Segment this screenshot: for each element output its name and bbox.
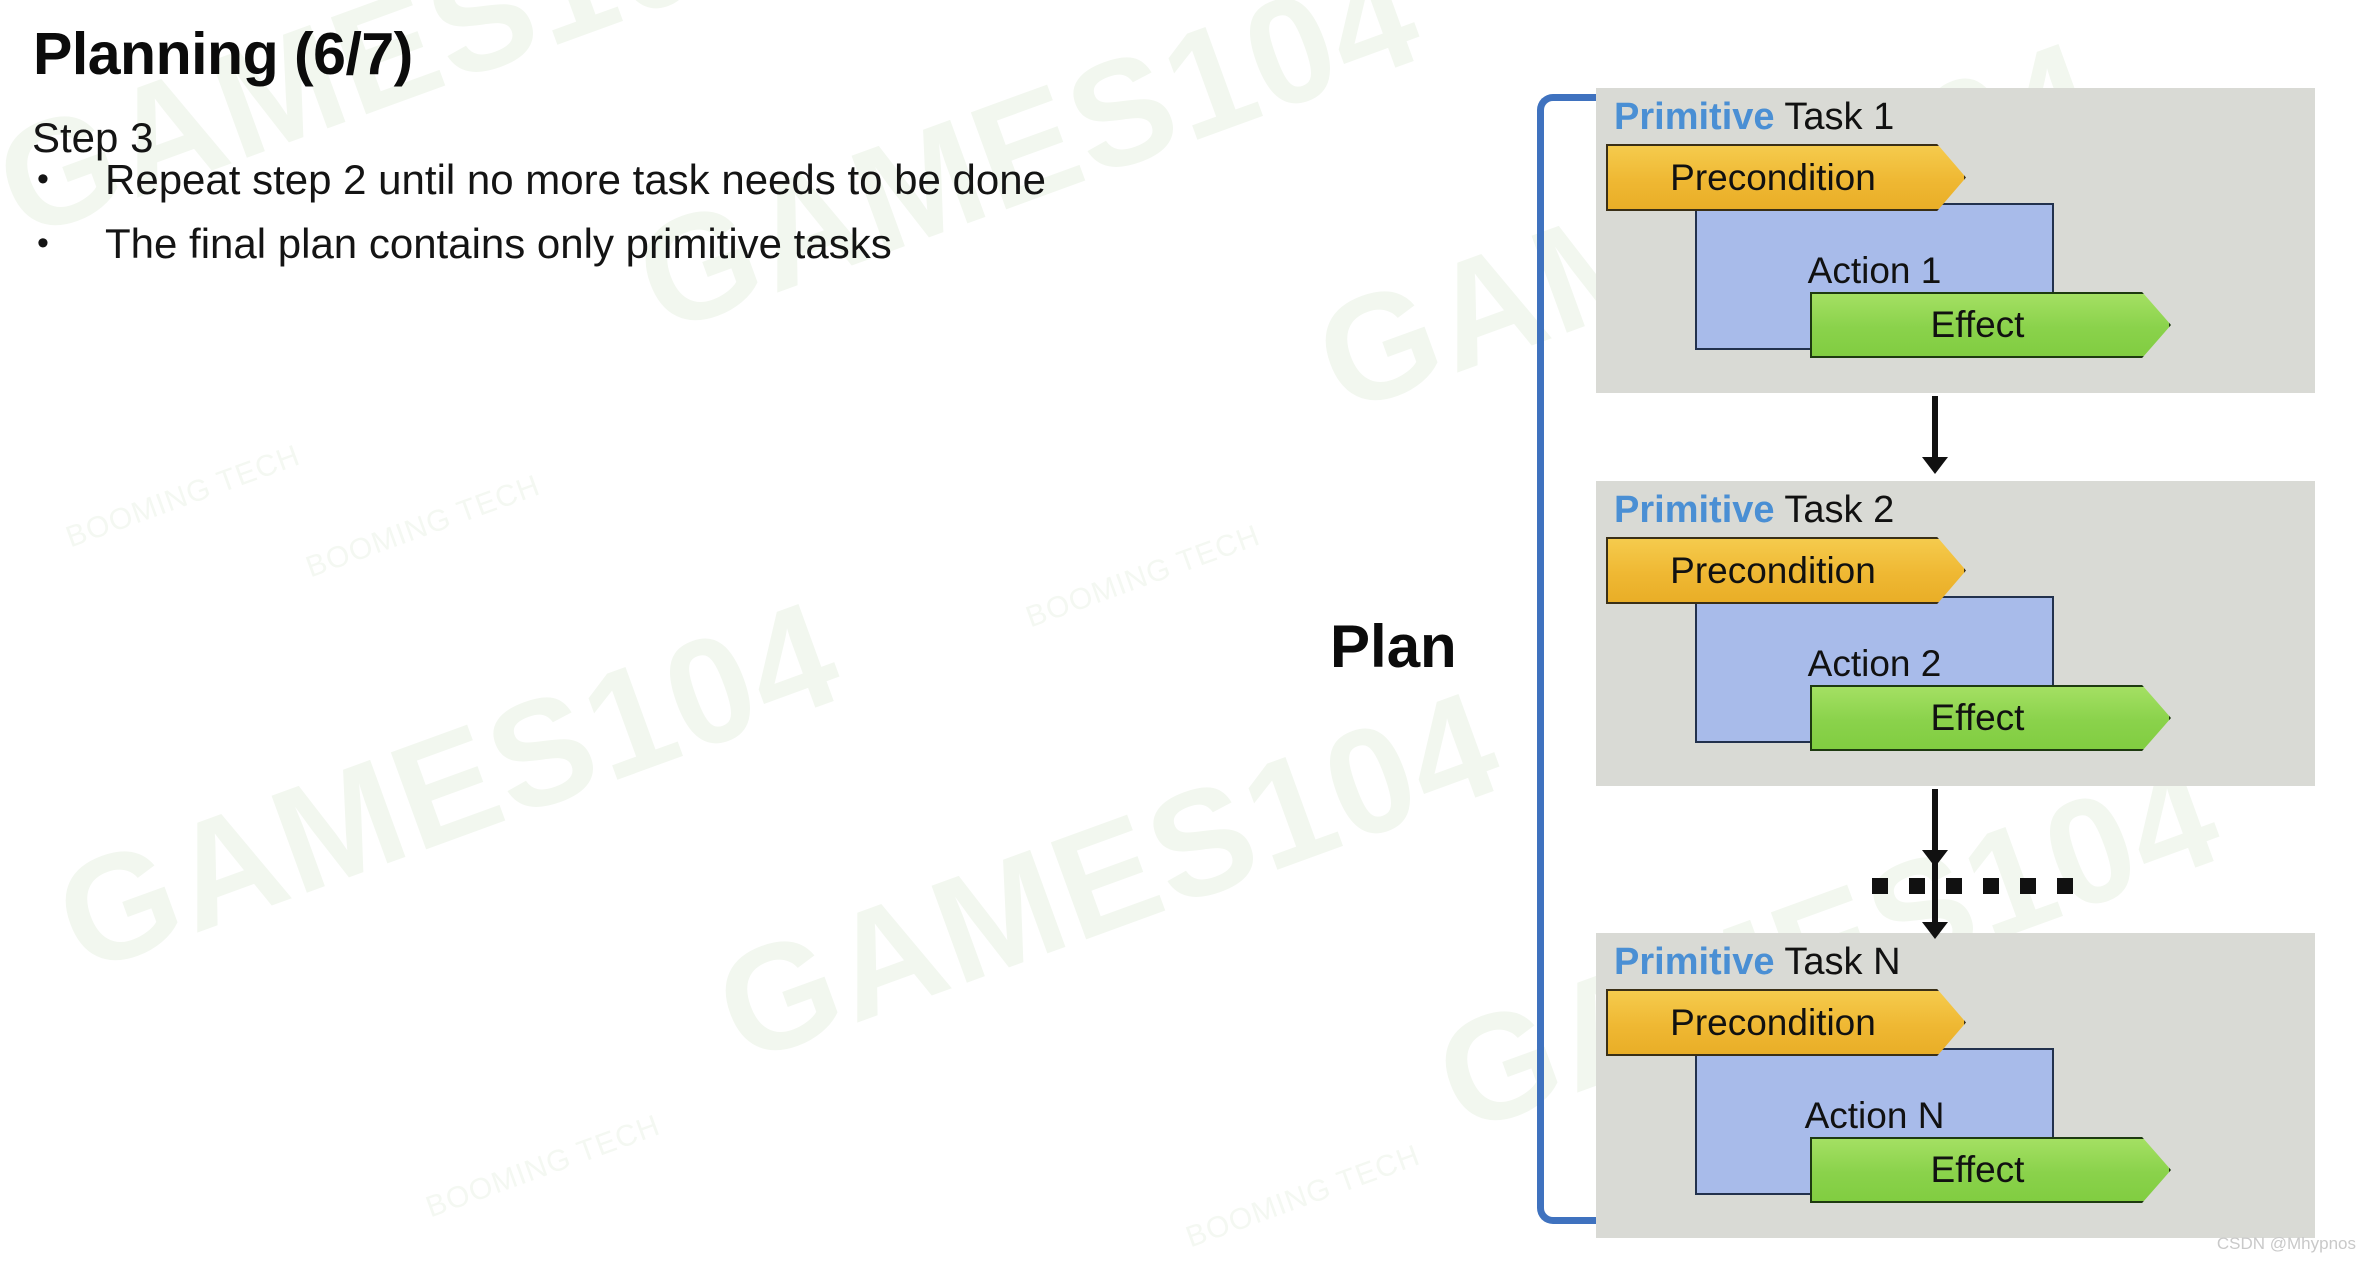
precondition-shape: Precondition (1606, 537, 1966, 604)
effect-label: Effect (1931, 697, 2051, 739)
primitive-keyword: Primitive (1614, 941, 1775, 983)
effect-shape: Effect (1810, 685, 2171, 751)
task-title-suffix: Task 1 (1775, 96, 1895, 138)
ellipsis-dot (2057, 878, 2073, 894)
down-arrow-icon (1932, 789, 1938, 852)
primitive-keyword: Primitive (1614, 489, 1775, 531)
plan-diagram: Primitive Task 1 Precondition Action 1 E… (0, 0, 2374, 1264)
primitive-task-panel: Primitive Task 2 Precondition Action 2 E… (1596, 481, 2315, 786)
task-title: Primitive Task 1 (1614, 96, 1894, 139)
primitive-task-panel: Primitive Task 1 Precondition Action 1 E… (1596, 88, 2315, 393)
credit-watermark: CSDN @Mhypnos (2217, 1234, 2356, 1254)
task-title: Primitive Task N (1614, 941, 1901, 984)
ellipsis-dot (1909, 878, 1925, 894)
primitive-keyword: Primitive (1614, 96, 1775, 138)
down-arrow-icon (1932, 396, 1938, 459)
precondition-label: Precondition (1670, 550, 1902, 592)
ellipsis-dot (1983, 878, 1999, 894)
precondition-label: Precondition (1670, 157, 1902, 199)
ellipsis-dot (2020, 878, 2036, 894)
task-title-suffix: Task 2 (1775, 489, 1895, 531)
task-title: Primitive Task 2 (1614, 489, 1894, 532)
ellipsis-dot (1946, 878, 1962, 894)
ellipsis-dots-icon (1872, 878, 2073, 894)
effect-label: Effect (1931, 304, 2051, 346)
ellipsis-dot (1872, 878, 1888, 894)
effect-label: Effect (1931, 1149, 2051, 1191)
primitive-task-panel: Primitive Task N Precondition Action N E… (1596, 933, 2315, 1238)
plan-label: Plan (1330, 612, 1457, 681)
effect-shape: Effect (1810, 292, 2171, 358)
precondition-shape: Precondition (1606, 144, 1966, 211)
precondition-label: Precondition (1670, 1002, 1902, 1044)
effect-shape: Effect (1810, 1137, 2171, 1203)
task-title-suffix: Task N (1775, 941, 1901, 983)
precondition-shape: Precondition (1606, 989, 1966, 1056)
